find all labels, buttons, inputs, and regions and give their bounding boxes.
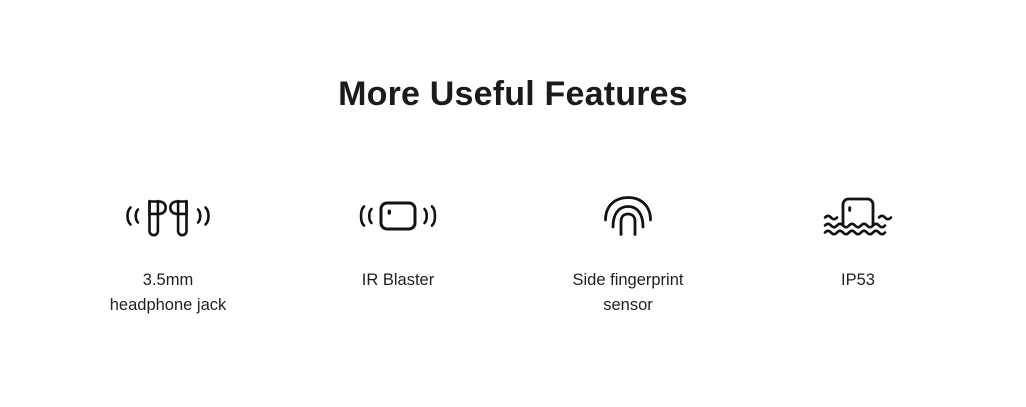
feature-label-ir-blaster: IR Blaster <box>328 268 468 293</box>
feature-label-line1: IP53 <box>841 271 875 289</box>
earbuds-with-sound-waves-icon <box>118 190 218 242</box>
feature-label-line1: IR Blaster <box>362 271 434 289</box>
ir-blaster-remote-signal-icon <box>355 190 441 242</box>
more-useful-features-section: More Useful Features <box>0 0 1026 407</box>
feature-item-headphone-jack: 3.5mm headphone jack <box>62 190 274 318</box>
feature-label-line1: 3.5mm <box>143 271 193 289</box>
feature-label-line2: headphone jack <box>110 296 227 314</box>
feature-item-ir-blaster: IR Blaster <box>292 190 504 293</box>
feature-item-ip53: IP53 <box>752 190 964 293</box>
feature-item-fingerprint: Side fingerprint sensor <box>522 190 734 318</box>
page-title: More Useful Features <box>0 72 1026 116</box>
feature-label-fingerprint: Side fingerprint sensor <box>538 268 718 318</box>
feature-label-line2: sensor <box>603 296 653 314</box>
feature-label-line1: Side fingerprint <box>573 271 684 289</box>
features-row: 3.5mm headphone jack <box>62 190 964 318</box>
fingerprint-icon <box>602 190 654 242</box>
phone-in-water-splash-icon <box>822 190 894 242</box>
feature-label-headphone-jack: 3.5mm headphone jack <box>78 268 258 318</box>
feature-label-ip53: IP53 <box>788 268 928 293</box>
